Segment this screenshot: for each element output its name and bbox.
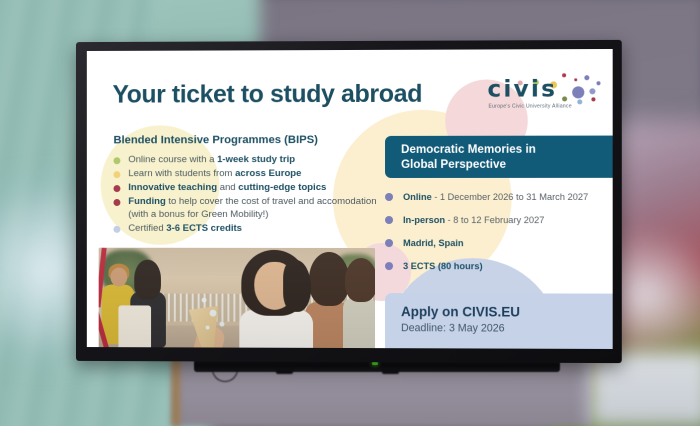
- tv-screen: Your ticket to study abroad civis Europe…: [87, 49, 613, 349]
- benefit-item-text: 1-week study trip: [217, 154, 295, 165]
- bips-benefits-list: Online course with a 1-week study tripLe…: [113, 154, 380, 237]
- logo-dot-1-icon: [562, 73, 566, 77]
- soundbar-foot-left: [276, 370, 293, 374]
- benefit-item-text: to help cover the cost of travel and acc…: [128, 196, 376, 220]
- detail-bullet-dot-icon: [385, 216, 393, 224]
- benefit-item-text: 3-6 ECTS credits: [166, 222, 242, 233]
- detail-bullet-dot-icon: [385, 239, 393, 247]
- logo-dot-10-icon: [562, 96, 567, 101]
- detail-bullet-dot-icon: [385, 262, 393, 270]
- detail-item-text: 3 ECTS (80 hours): [403, 261, 482, 271]
- photo-shading: [99, 248, 375, 349]
- benefit-item: Certified 3-6 ECTS credits: [113, 222, 380, 235]
- benefit-item-text: Online course with a: [128, 154, 217, 165]
- apply-callout[interactable]: Apply on CIVIS.EU Deadline: 3 May 2026: [385, 293, 613, 349]
- benefit-item-text: cutting-edge topics: [238, 182, 326, 193]
- bips-subheading: Blended Intensive Programmes (BIPS): [113, 134, 317, 146]
- detail-item-text: Online: [403, 192, 432, 202]
- television: Your ticket to study abroad civis Europe…: [76, 40, 622, 363]
- detail-item: Madrid, Spain: [385, 238, 613, 249]
- detail-item-text: - 8 to 12 February 2027: [445, 215, 544, 225]
- civis-logo: civis Europe's Civic University Alliance: [487, 72, 612, 115]
- logo-dot-4-icon: [596, 81, 600, 85]
- detail-item-text: - 1 December 2026 to 31 March 2027: [432, 192, 588, 202]
- benefit-bullet-dot-icon: [113, 226, 120, 233]
- benefit-item-text: and: [217, 182, 238, 193]
- soundbar-power-led-icon: [372, 362, 378, 365]
- benefit-item-text: Certified: [128, 222, 166, 233]
- benefit-item: Funding to help cover the cost of travel…: [113, 196, 380, 221]
- logo-dot-11-icon: [577, 99, 582, 104]
- logo-wordmark: civis: [487, 76, 557, 102]
- cabinet-edge: [172, 352, 180, 426]
- benefit-item-text: Learn with students from: [128, 168, 235, 179]
- benefit-item: Online course with a 1-week study trip: [113, 154, 380, 167]
- detail-item-text: In-person: [403, 215, 445, 225]
- apply-deadline: Deadline: 3 May 2026: [401, 322, 613, 335]
- benefit-item-text: across Europe: [235, 168, 301, 179]
- room-scene: Your ticket to study abroad civis Europe…: [0, 0, 700, 426]
- students-photo: [99, 248, 375, 349]
- programme-title-panel: Democratic Memories in Global Perspectiv…: [385, 136, 613, 178]
- benefit-item: Learn with students from across Europe: [113, 168, 380, 181]
- detail-item: 3 ECTS (80 hours): [385, 261, 613, 272]
- detail-item-text: Madrid, Spain: [403, 238, 463, 248]
- floor-right: [590, 352, 700, 426]
- benefit-item-text: Innovative teaching: [128, 182, 217, 193]
- logo-dot-2-icon: [574, 78, 577, 81]
- logo-dot-8-icon: [572, 86, 584, 98]
- slide-title: Your ticket to study abroad: [112, 80, 422, 110]
- logo-tagline: Europe's Civic University Alliance: [488, 103, 571, 109]
- soundbar-foot-right: [382, 370, 399, 374]
- detail-item: Online - 1 December 2026 to 31 March 202…: [385, 192, 613, 203]
- detail-item: In-person - 8 to 12 February 2027: [385, 215, 613, 226]
- benefit-bullet-dot-icon: [113, 185, 120, 192]
- programme-details-list: Online - 1 December 2026 to 31 March 202…: [385, 192, 613, 285]
- programme-title-line1: Democratic Memories in: [401, 143, 613, 158]
- benefit-item: Innovative teaching and cutting-edge top…: [113, 182, 380, 195]
- benefit-bullet-dot-icon: [113, 199, 120, 206]
- benefit-bullet-dot-icon: [113, 172, 120, 179]
- detail-bullet-dot-icon: [385, 193, 393, 201]
- benefit-item-text: Funding: [128, 196, 165, 207]
- logo-dot-3-icon: [584, 75, 589, 80]
- benefit-bullet-dot-icon: [113, 158, 120, 165]
- programme-title-line2: Global Perspective: [401, 157, 613, 172]
- presentation-slide: Your ticket to study abroad civis Europe…: [87, 49, 613, 349]
- apply-title: Apply on CIVIS.EU: [401, 304, 613, 320]
- logo-dot-9-icon: [589, 88, 595, 94]
- logo-dot-12-icon: [591, 97, 595, 101]
